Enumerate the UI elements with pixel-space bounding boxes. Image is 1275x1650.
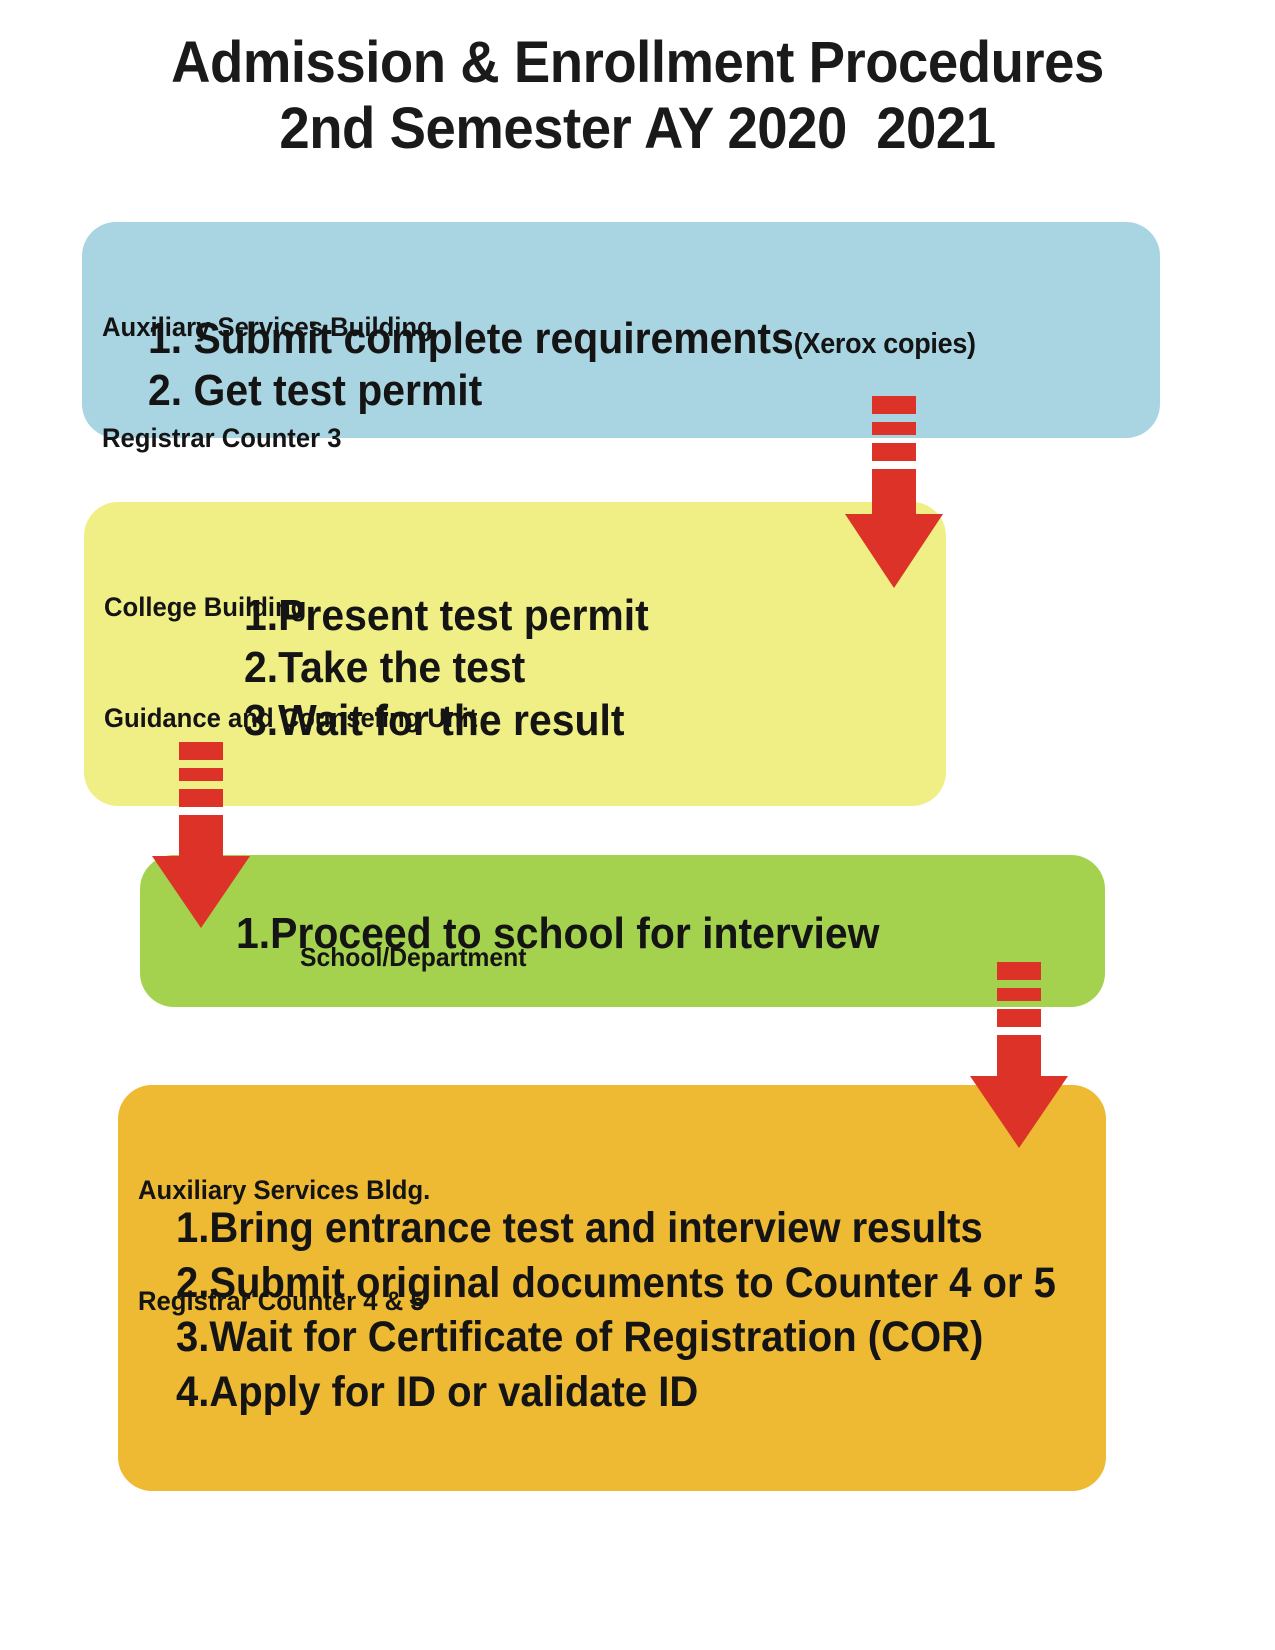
step-box-3: School/Department 1.Proceed to school fo… [140, 855, 1105, 1007]
step-2-item: 2.Take the test [244, 642, 649, 694]
step-3-item: 1.Proceed to school for interview [236, 908, 880, 960]
page-title: Admission & Enrollment Procedures 2nd Se… [0, 30, 1275, 162]
step-1-item-text: 1. Submit complete requirements [148, 314, 794, 363]
step-4-item: 4.Apply for ID or validate ID [176, 1365, 1056, 1420]
step-2-item-list: 1.Present test permit 2.Take the test 3.… [244, 590, 679, 747]
step-2-item: 3.Wait for the result [244, 695, 649, 747]
step-box-4: Auxiliary Services Bldg. Registrar Count… [118, 1085, 1106, 1491]
step-1-item-suffix: (Xerox copies) [794, 328, 976, 360]
step-1-location-line-2: Registrar Counter 3 [102, 420, 433, 457]
down-arrow-icon [970, 962, 1068, 1148]
flowchart-canvas: Admission & Enrollment Procedures 2nd Se… [0, 0, 1275, 1650]
title-line-2: 2nd Semester AY 2020 2021 [38, 96, 1237, 162]
title-line-1: Admission & Enrollment Procedures [38, 30, 1237, 96]
step-4-item: 3.Wait for Certificate of Registration (… [176, 1310, 1056, 1365]
step-box-1: Auxiliary Services Building Registrar Co… [82, 222, 1160, 438]
step-1-item: 1. Submit complete requirements(Xerox co… [148, 313, 976, 365]
step-2-item: 1.Present test permit [244, 590, 649, 642]
down-arrow-icon [845, 396, 943, 588]
down-arrow-icon [152, 742, 250, 928]
step-1-item-text: 2. Get test permit [148, 366, 482, 415]
step-4-item: 2.Submit original documents to Counter 4… [176, 1256, 1056, 1311]
step-3-item-list: 1.Proceed to school for interview [236, 908, 928, 960]
step-4-item: 1.Bring entrance test and interview resu… [176, 1201, 1056, 1256]
step-4-item-list: 1.Bring entrance test and interview resu… [176, 1201, 1122, 1419]
